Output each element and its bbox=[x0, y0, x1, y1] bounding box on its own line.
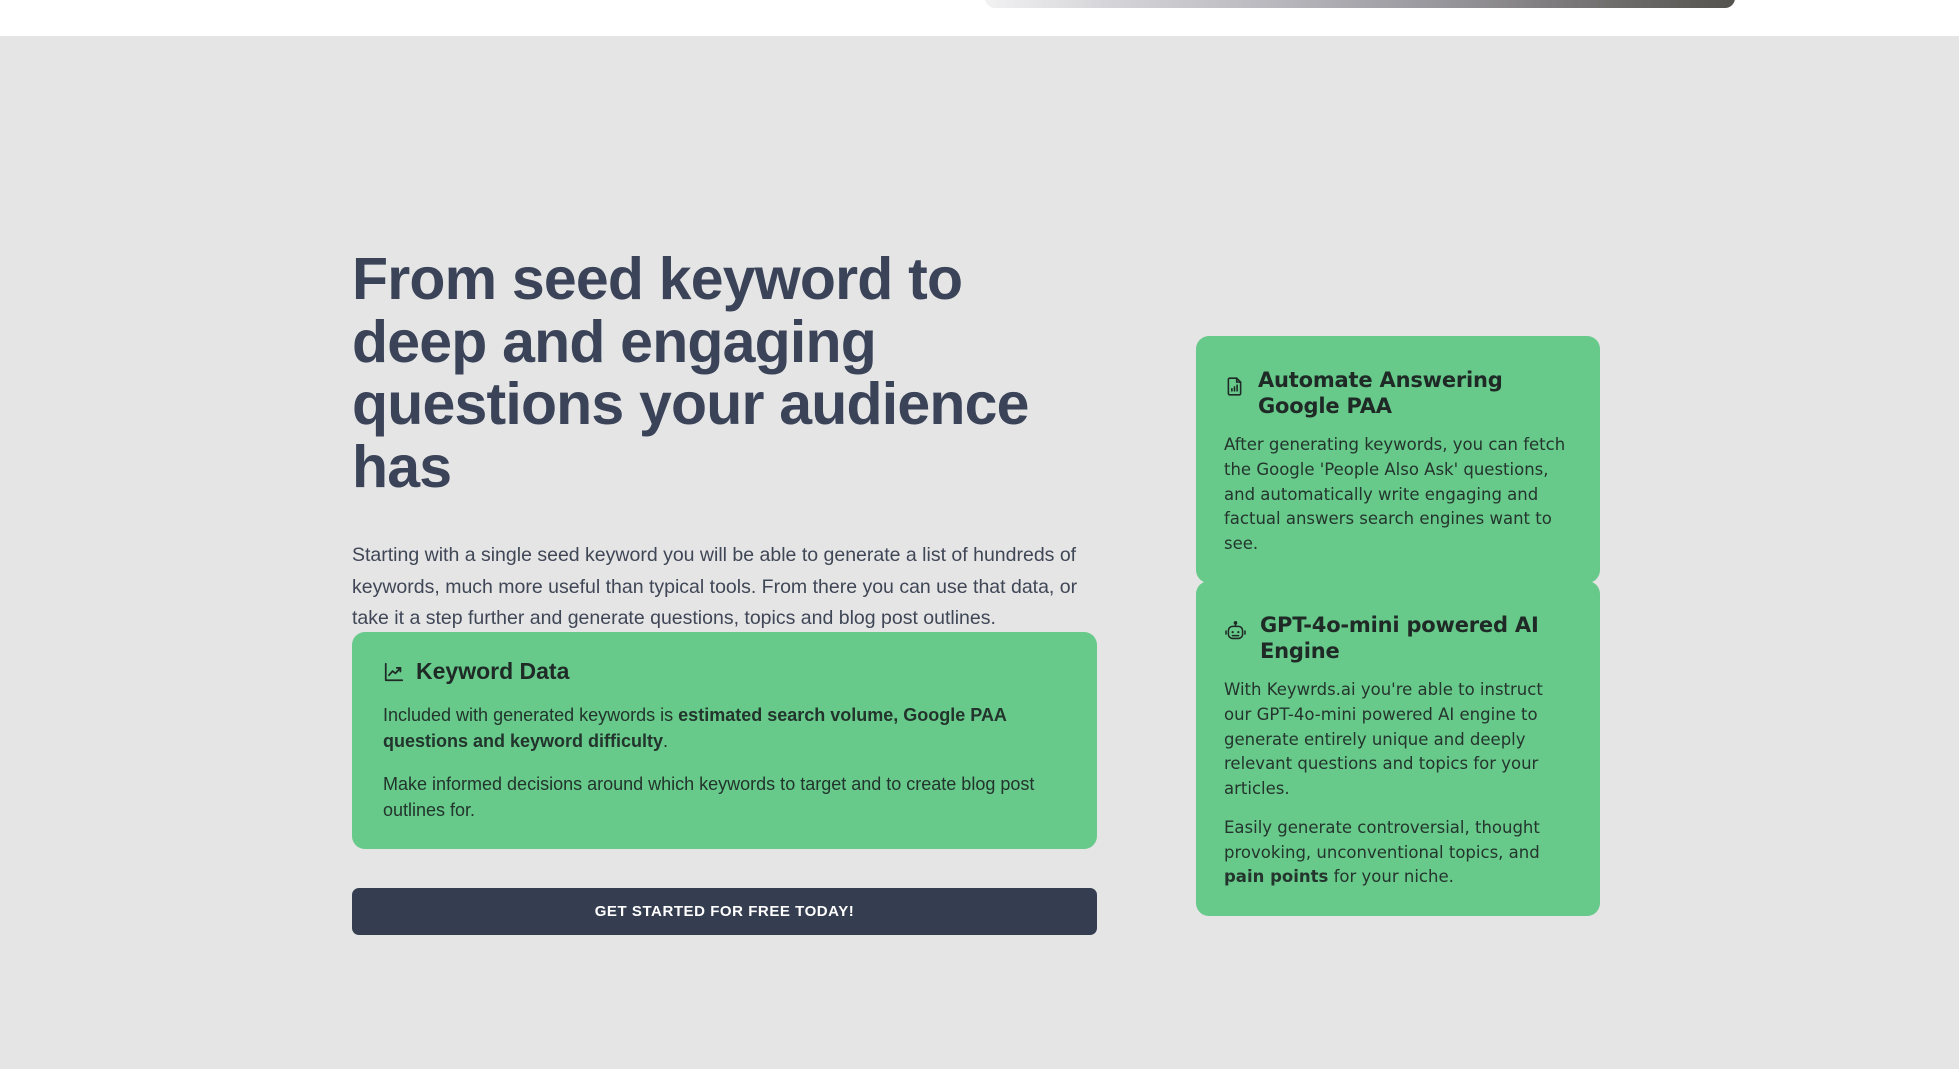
feature-card-google-paa: Automate Answering Google PAA After gene… bbox=[1196, 336, 1600, 583]
file-chart-icon bbox=[1224, 376, 1245, 397]
feature-card-ai-engine-title: GPT-4o-mini powered AI Engine bbox=[1224, 611, 1570, 664]
feature-card-keyword-data-paragraph-2: Make informed decisions around which key… bbox=[383, 771, 1066, 824]
ai-p2-bold: pain points bbox=[1224, 867, 1328, 886]
feature-card-google-paa-paragraph: After generating keywords, you can fetch… bbox=[1224, 433, 1570, 557]
feature-card-keyword-data-paragraph-1: Included with generated keywords is esti… bbox=[383, 702, 1066, 755]
ai-p2-prefix: Easily generate controversial, thought p… bbox=[1224, 818, 1540, 862]
hero-section: From seed keyword to deep and engaging q… bbox=[0, 36, 1959, 1069]
kd-p1-prefix: Included with generated keywords is bbox=[383, 705, 678, 725]
feature-card-google-paa-title: Automate Answering Google PAA bbox=[1224, 366, 1570, 419]
chart-line-up-icon bbox=[383, 661, 405, 683]
feature-card-ai-engine-paragraph-1: With Keywrds.ai you're able to instruct … bbox=[1224, 678, 1570, 802]
robot-icon bbox=[1224, 621, 1247, 644]
page-top-strip bbox=[0, 0, 1959, 36]
feature-card-keyword-data: Keyword Data Included with generated key… bbox=[352, 632, 1097, 849]
hero-left-column: From seed keyword to deep and engaging q… bbox=[352, 248, 1097, 635]
feature-card-ai-engine-title-text: GPT-4o-mini powered AI Engine bbox=[1260, 611, 1570, 664]
ai-p2-suffix: for your niche. bbox=[1328, 867, 1454, 886]
feature-card-ai-engine: GPT-4o-mini powered AI Engine With Keywr… bbox=[1196, 581, 1600, 916]
feature-card-keyword-data-title: Keyword Data bbox=[383, 658, 1066, 686]
feature-card-ai-engine-paragraph-2: Easily generate controversial, thought p… bbox=[1224, 816, 1570, 890]
kd-p1-suffix: . bbox=[663, 731, 668, 751]
hero-lead-paragraph: Starting with a single seed keyword you … bbox=[352, 540, 1087, 635]
page-title: From seed keyword to deep and engaging q… bbox=[352, 248, 1097, 498]
get-started-button[interactable]: GET STARTED FOR FREE TODAY! bbox=[352, 888, 1097, 935]
device-mockup-base-edge bbox=[985, 0, 1735, 8]
feature-card-google-paa-title-text: Automate Answering Google PAA bbox=[1258, 366, 1570, 419]
feature-card-keyword-data-title-text: Keyword Data bbox=[416, 658, 569, 686]
